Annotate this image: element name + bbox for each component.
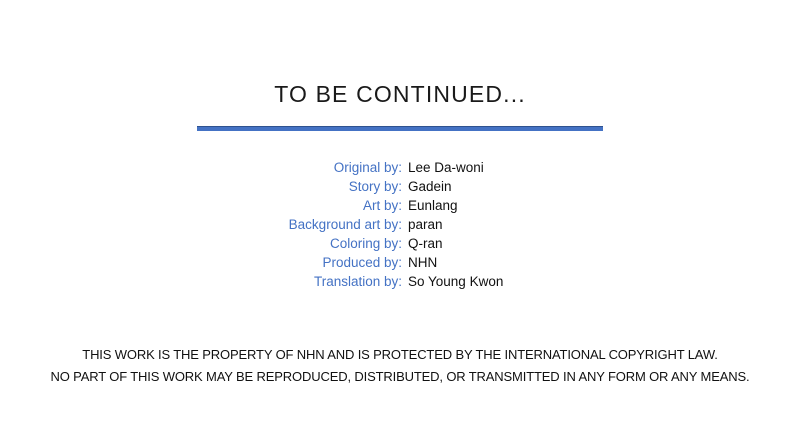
credit-label: Original by:	[0, 158, 402, 177]
credit-value: Gadein	[402, 177, 452, 196]
credit-value: Lee Da-woni	[402, 158, 484, 177]
credits-list: Original by: Lee Da-woni Story by: Gadei…	[0, 158, 800, 291]
credit-value: Q-ran	[402, 234, 443, 253]
title-block: TO BE CONTINUED...	[0, 80, 800, 108]
copyright-line-2: NO PART OF THIS WORK MAY BE REPRODUCED, …	[0, 366, 800, 388]
page-title: TO BE CONTINUED...	[0, 80, 800, 108]
credit-value: NHN	[402, 253, 437, 272]
title-divider	[197, 126, 603, 131]
credit-row: Story by: Gadein	[0, 177, 800, 196]
credit-value: So Young Kwon	[402, 272, 503, 291]
credit-label: Background art by:	[0, 215, 402, 234]
credit-label: Story by:	[0, 177, 402, 196]
copyright-line-1: THIS WORK IS THE PROPERTY OF NHN AND IS …	[0, 344, 800, 366]
credit-row: Art by: Eunlang	[0, 196, 800, 215]
copyright-notice: THIS WORK IS THE PROPERTY OF NHN AND IS …	[0, 344, 800, 388]
credit-label: Coloring by:	[0, 234, 402, 253]
credit-row: Translation by: So Young Kwon	[0, 272, 800, 291]
credit-label: Produced by:	[0, 253, 402, 272]
credit-row: Original by: Lee Da-woni	[0, 158, 800, 177]
end-credits-slide: TO BE CONTINUED... Original by: Lee Da-w…	[0, 0, 800, 427]
credit-value: Eunlang	[402, 196, 458, 215]
credit-value: paran	[402, 215, 443, 234]
credit-row: Produced by: NHN	[0, 253, 800, 272]
credit-row: Coloring by: Q-ran	[0, 234, 800, 253]
credit-label: Art by:	[0, 196, 402, 215]
credit-row: Background art by: paran	[0, 215, 800, 234]
credit-label: Translation by:	[0, 272, 402, 291]
